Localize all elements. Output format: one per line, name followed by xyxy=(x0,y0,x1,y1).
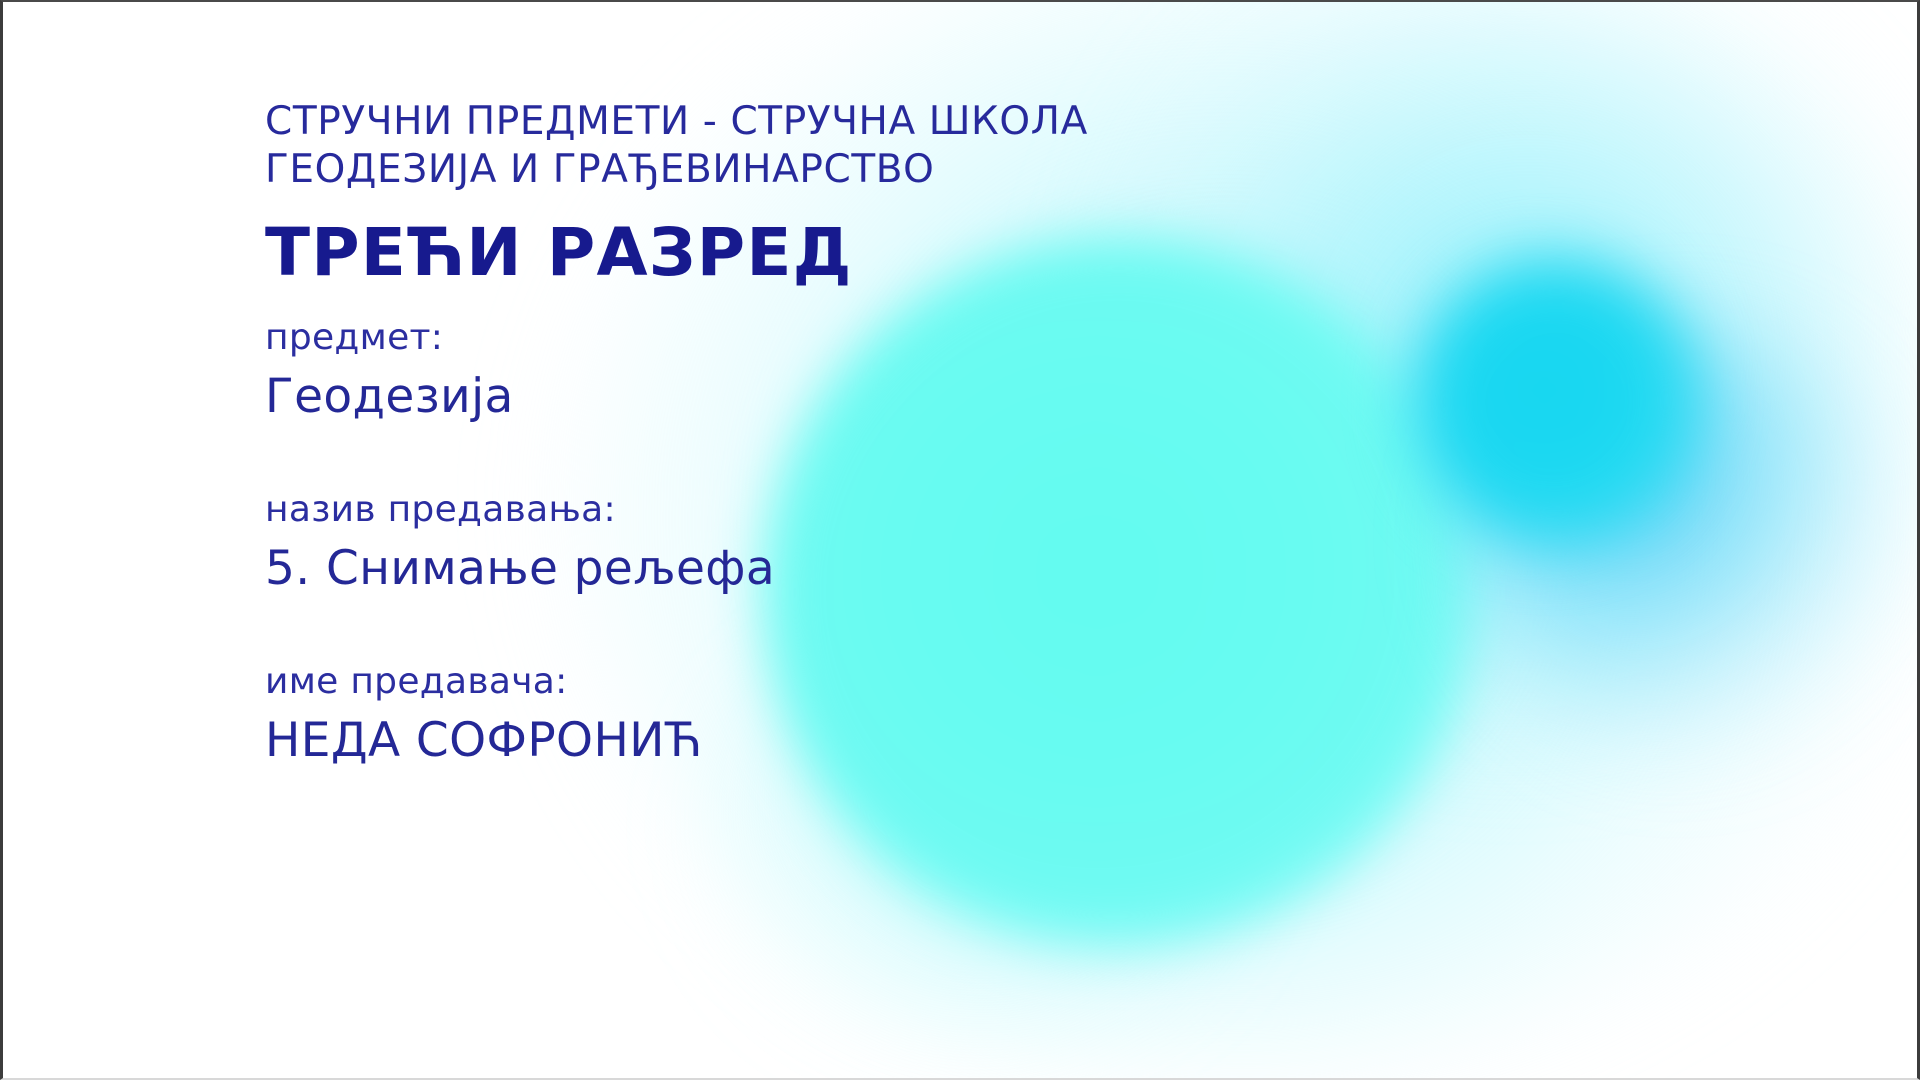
field-lecturer: име предавача: НЕДА СОФРОНИЋ xyxy=(265,660,1365,770)
program-line-1: СТРУЧНИ ПРЕДМЕТИ - СТРУЧНА ШКОЛА xyxy=(265,98,1365,146)
lecture-title-label: назив предавања: xyxy=(265,488,1365,532)
field-subject: предмет: Геодезија xyxy=(265,316,1365,426)
lecture-title-value: 5. Снимање рељефа xyxy=(265,540,1365,598)
lecturer-value: НЕДА СОФРОНИЋ xyxy=(265,712,1365,770)
subject-label: предмет: xyxy=(265,316,1365,360)
program-line-2: ГЕОДЕЗИЈА И ГРАЂЕВИНАРСТВО xyxy=(265,146,1365,194)
lecturer-label: име предавача: xyxy=(265,660,1365,704)
blue-wash-glow xyxy=(1473,332,1903,752)
cyan-circle-small xyxy=(1411,257,1701,547)
slide-canvas: СТРУЧНИ ПРЕДМЕТИ - СТРУЧНА ШКОЛА ГЕОДЕЗИ… xyxy=(0,0,1920,1080)
title-card-content: СТРУЧНИ ПРЕДМЕТИ - СТРУЧНА ШКОЛА ГЕОДЕЗИ… xyxy=(265,98,1365,770)
grade-headline: ТРЕЋИ РАЗРЕД xyxy=(265,216,1365,290)
field-lecture-title: назив предавања: 5. Снимање рељефа xyxy=(265,488,1365,598)
subject-value: Геодезија xyxy=(265,368,1365,426)
